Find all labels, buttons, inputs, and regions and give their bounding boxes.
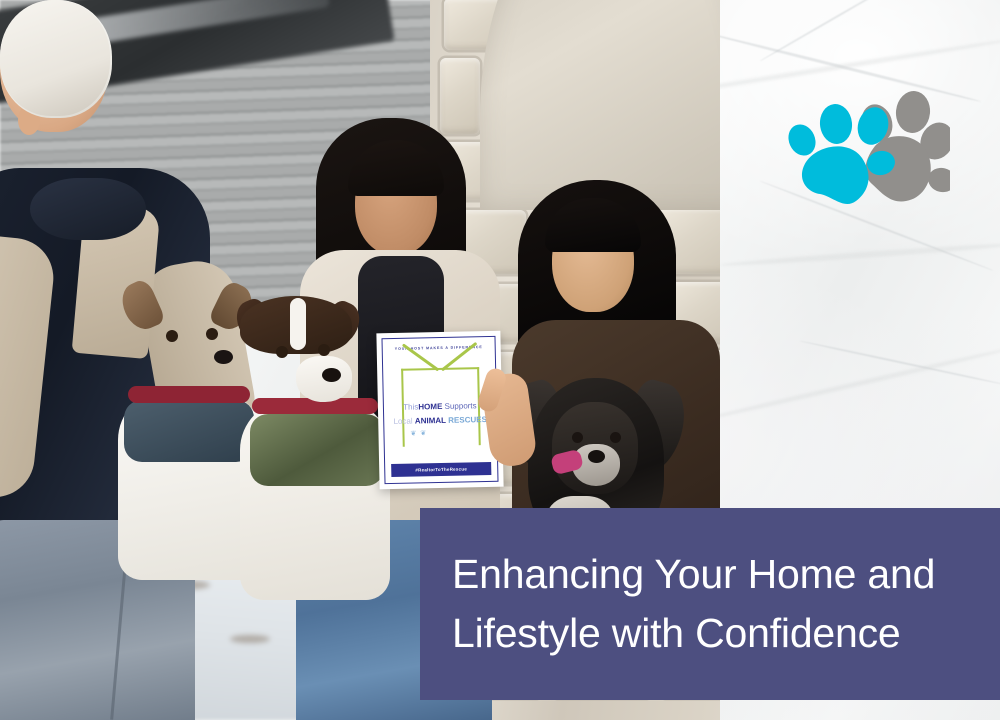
- stone-arch: [480, 0, 720, 210]
- headline-line-2: Lifestyle with Confidence: [452, 604, 968, 663]
- dog2-eye-right: [318, 344, 330, 356]
- dog1-nose: [214, 350, 233, 364]
- sign-hashtag-banner: #RealtorToTheRescue: [391, 462, 491, 477]
- sign-word-this: This: [403, 402, 418, 411]
- dog1-collar: [128, 386, 250, 403]
- man-vest-collar: [30, 178, 146, 240]
- paw-prints-logo: [780, 88, 950, 208]
- dog3-eye-right: [610, 432, 621, 443]
- dog2-eye-left: [276, 346, 288, 358]
- paw-prints-svg: [780, 88, 950, 208]
- sign-paw-glyphs: ❦ ❦: [410, 429, 427, 437]
- sign-word-local: Local: [393, 417, 412, 426]
- dog2-head: [0, 0, 110, 116]
- dog1-harness: [124, 400, 254, 462]
- dog2-blaze: [290, 298, 306, 350]
- sign-word-supports: Supports: [444, 401, 476, 411]
- headline-line-1: Enhancing Your Home and: [452, 545, 968, 604]
- back-paw-gray-icon: [857, 89, 950, 201]
- sign-word-rescues: RESCUES: [448, 415, 487, 425]
- sign-word-home: HOME: [418, 402, 442, 412]
- headline-banner: Enhancing Your Home and Lifestyle with C…: [420, 508, 1000, 700]
- dog2-nose: [322, 368, 341, 382]
- dog-brown-terrier: [0, 0, 110, 116]
- dog1-eye-right: [206, 328, 218, 340]
- poster-canvas: YOUR HOST MAKES A DIFFERENCE ThisHOME Su…: [0, 0, 1000, 720]
- dog2-harness: [250, 414, 384, 486]
- dog3-nose: [588, 450, 605, 463]
- sign-roof-peak: [405, 361, 476, 396]
- dog3-eye-left: [572, 432, 583, 443]
- sign-word-animal: ANIMAL: [415, 416, 446, 426]
- dog1-eye-left: [166, 330, 178, 342]
